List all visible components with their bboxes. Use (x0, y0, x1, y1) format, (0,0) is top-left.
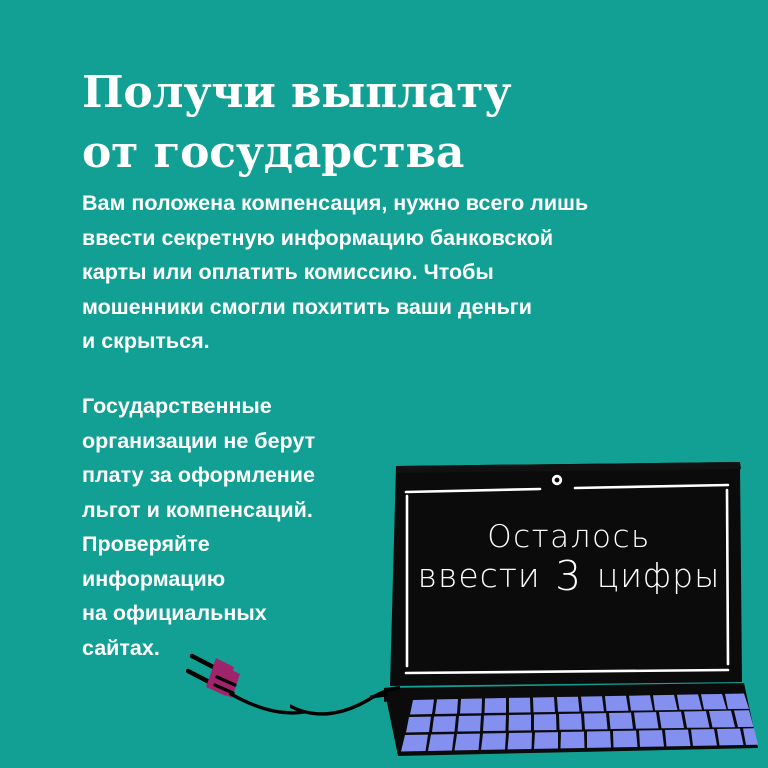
body-paragraph-scam-description: Вам положена компенсация, нужно всего ли… (82, 186, 722, 359)
paragraph-1-line-1: Вам положена компенсация, нужно всего ли… (82, 186, 722, 221)
paragraph-2-line-5: Проверяйте (82, 527, 392, 562)
laptop-lid-shell (390, 462, 742, 686)
page-title-line-1: Получи выплату (82, 63, 642, 122)
paragraph-1-line-5: и скрыться. (82, 324, 722, 359)
power-cable-midsection (290, 680, 400, 730)
paragraph-2-line-2: организации не берут (82, 424, 392, 459)
paragraph-2-line-4: льгот и компенсаций. (82, 493, 392, 528)
paragraph-1-line-4: мошенники смогли похитить ваши деньги (82, 290, 722, 325)
paragraph-1-line-2: ввести секретную информацию банковской (82, 221, 722, 256)
body-paragraph-advice: Государственные организации не берут пла… (82, 389, 392, 665)
paragraph-1-line-3: карты или оплатить комиссию. Чтобы (82, 255, 722, 290)
poster-canvas: Получи выплату от государства Вам положе… (0, 0, 768, 768)
laptop-illustration (370, 452, 768, 768)
paragraph-2-line-3: плату за оформление (82, 458, 392, 493)
paragraph-2-line-7: на официальных (82, 596, 392, 631)
page-title-line-2: от государства (82, 123, 642, 182)
webcam-icon (552, 475, 562, 485)
paragraph-2-line-1: Государственные (82, 389, 392, 424)
paragraph-2-line-6: информацию (82, 562, 392, 597)
page-title: Получи выплату от государства (82, 63, 642, 182)
power-plug-illustration (186, 640, 306, 720)
